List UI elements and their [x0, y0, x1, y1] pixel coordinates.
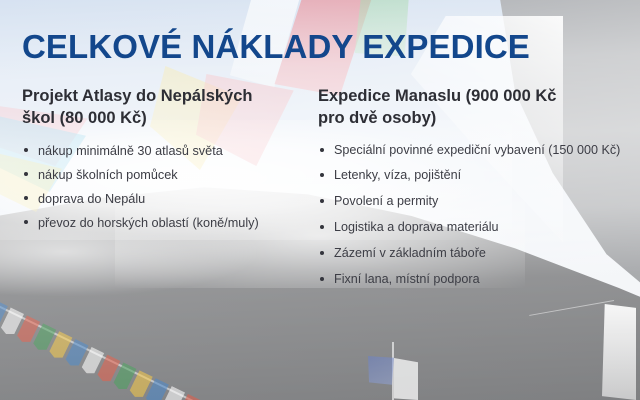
- column-left: Projekt Atlasy do Nepálských škol (80 00…: [22, 86, 310, 237]
- list-item: Speciální povinné expediční vybavení (15…: [318, 141, 624, 161]
- list-item: převoz do horských oblastí (koně/muly): [22, 213, 310, 233]
- column-right-heading-line-2: pro dvě osoby): [318, 109, 436, 127]
- list-item: Zázemí v základním táboře: [318, 244, 624, 264]
- list-item: nákup minimálně 30 atlasů světa: [22, 141, 310, 161]
- slide-canvas: CELKOVÉ NÁKLADY EXPEDICE Projekt Atlasy …: [0, 0, 640, 400]
- column-right-list: Speciální povinné expediční vybavení (15…: [318, 141, 624, 290]
- list-item: Fixní lana, místní podpora: [318, 270, 624, 290]
- column-left-heading-line-2: škol (80 000 Kč): [22, 109, 147, 127]
- column-left-heading-line-1: Projekt Atlasy do Nepálských: [22, 87, 252, 105]
- column-left-heading: Projekt Atlasy do Nepálských škol (80 00…: [22, 86, 310, 130]
- list-item: Logistika a doprava materiálu: [318, 218, 624, 238]
- column-right: Expedice Manaslu (900 000 Kč pro dvě oso…: [318, 86, 624, 296]
- list-item: Letenky, víza, pojištění: [318, 166, 624, 186]
- list-item: doprava do Nepálu: [22, 189, 310, 209]
- list-item: nákup školních pomůcek: [22, 165, 310, 185]
- slide-content: CELKOVÉ NÁKLADY EXPEDICE Projekt Atlasy …: [0, 0, 640, 400]
- list-item: Povolení a permity: [318, 192, 624, 212]
- column-right-heading: Expedice Manaslu (900 000 Kč pro dvě oso…: [318, 86, 624, 130]
- page-title: CELKOVÉ NÁKLADY EXPEDICE: [22, 28, 530, 66]
- column-left-list: nákup minimálně 30 atlasů světanákup ško…: [22, 141, 310, 233]
- column-right-heading-line-1: Expedice Manaslu (900 000 Kč: [318, 87, 556, 105]
